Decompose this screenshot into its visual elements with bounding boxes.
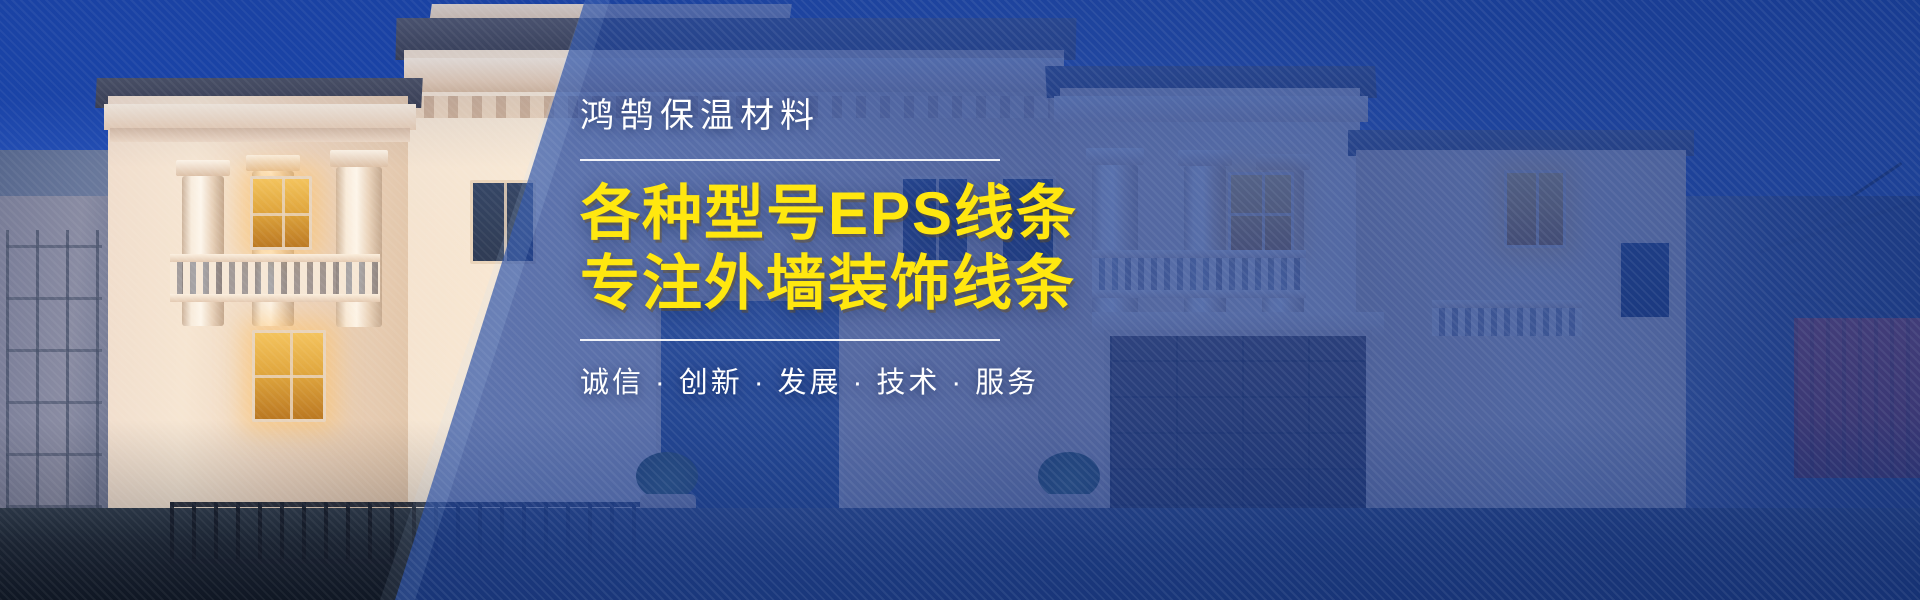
window-lit xyxy=(252,330,326,422)
left-tower-cornice-lower xyxy=(110,128,410,142)
tagline: 诚信 · 创新 · 发展 · 技术 · 服务 xyxy=(580,359,1280,401)
brand-name: 鸿鹄保温材料 xyxy=(580,96,1280,137)
balustrade-posts xyxy=(170,262,380,294)
column-capital xyxy=(246,155,300,171)
column-capital xyxy=(176,160,230,176)
column-capital xyxy=(330,150,388,167)
headline-line-2: 专注外墙装饰线条 xyxy=(580,249,1280,319)
divider-bottom xyxy=(580,339,1000,341)
window-lit xyxy=(250,176,312,250)
column xyxy=(182,176,224,326)
divider-top xyxy=(580,159,1000,161)
column xyxy=(336,167,382,327)
balustrade-rail xyxy=(170,294,380,302)
balustrade-rail xyxy=(170,254,380,262)
promo-banner: 鸿鹄保温材料 各种型号EPS线条 专注外墙装饰线条 诚信 · 创新 · 发展 ·… xyxy=(0,0,1920,600)
left-tower-cornice xyxy=(104,104,416,130)
banner-copy: 鸿鹄保温材料 各种型号EPS线条 专注外墙装饰线条 诚信 · 创新 · 发展 ·… xyxy=(580,96,1280,401)
headline-line-1: 各种型号EPS线条 xyxy=(580,179,1280,249)
